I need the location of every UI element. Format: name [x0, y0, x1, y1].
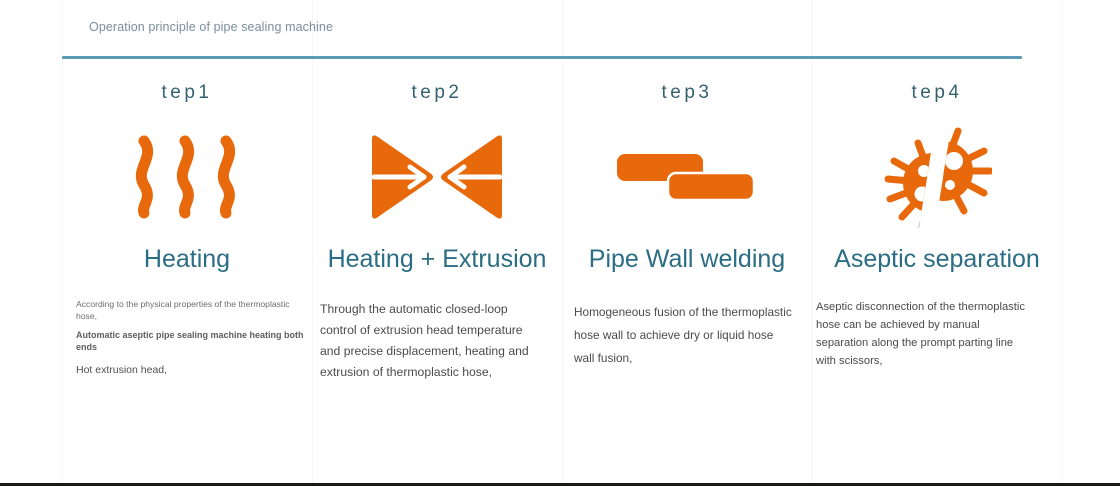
- overlapping-bars-icon: [612, 142, 762, 212]
- page-title: Operation principle of pipe sealing mach…: [89, 18, 349, 36]
- step-title-1: Heating: [62, 237, 312, 281]
- step-column-3: tep3 Pipe Wall welding Homogeneous fusio…: [562, 80, 812, 370]
- steps-container: tep1 Heating According to the physical p…: [0, 80, 1120, 470]
- step-label-4: tep4: [812, 80, 1062, 106]
- step-label-3: tep3: [562, 80, 812, 106]
- step-body-1: According to the physical properties of …: [62, 299, 312, 377]
- step-body-2: Through the automatic closed-loop contro…: [312, 299, 545, 383]
- step-icon-1: [62, 117, 312, 237]
- step-title-2: Heating + Extrusion: [312, 237, 562, 281]
- step-paragraph: Homogeneous fusion of the thermoplastic …: [574, 301, 792, 370]
- header: Operation principle of pipe sealing mach…: [89, 18, 349, 36]
- heat-waves-icon: [122, 127, 252, 227]
- step-title-4: Aseptic separation: [812, 237, 1062, 281]
- step-paragraph: Through the automatic closed-loop contro…: [320, 299, 545, 383]
- step-icon-4: [812, 117, 1062, 237]
- step-paragraph: Hot extrusion head,: [76, 364, 312, 377]
- step-column-2: tep2: [312, 80, 562, 383]
- step-paragraph: Aseptic disconnection of the thermoplast…: [816, 298, 1034, 370]
- step-body-4: Aseptic disconnection of the thermoplast…: [812, 298, 1034, 370]
- step-paragraph: Automatic aseptic pipe sealing machine h…: [76, 329, 312, 353]
- step-label-2: tep2: [312, 80, 562, 106]
- step-title-3: Pipe Wall welding: [562, 237, 812, 281]
- step-label-1: tep1: [62, 80, 312, 106]
- opposing-arrows-icon: [362, 127, 512, 227]
- split-germ-icon: [882, 125, 992, 230]
- slide-root: Operation principle of pipe sealing mach…: [0, 0, 1120, 486]
- step-icon-3: [562, 117, 812, 237]
- step-column-1: tep1 Heating According to the physical p…: [62, 80, 312, 377]
- step-column-4: tep4: [812, 80, 1062, 370]
- step-paragraph: According to the physical properties of …: [76, 299, 312, 322]
- step-body-3: Homogeneous fusion of the thermoplastic …: [562, 301, 792, 370]
- header-divider: [62, 56, 1022, 59]
- step-icon-2: [312, 117, 562, 237]
